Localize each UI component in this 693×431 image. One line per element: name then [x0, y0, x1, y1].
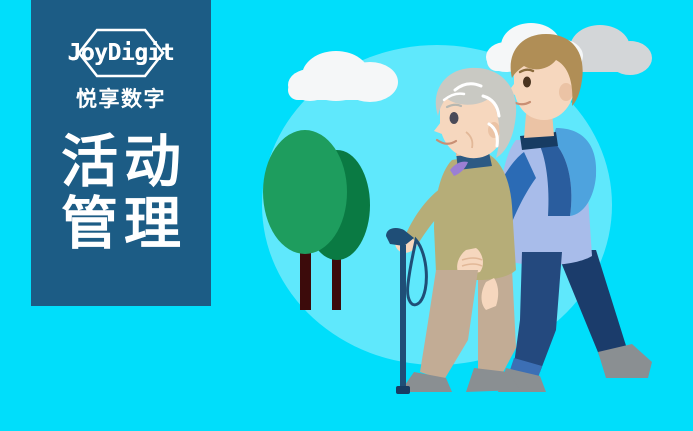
logo-hexagon-icon: JoyDigit: [47, 26, 195, 80]
page-title-line2: 管理: [55, 194, 187, 256]
poster-canvas: JoyDigit 悦享数字 活动 管理: [0, 0, 693, 431]
brand-panel: JoyDigit 悦享数字 活动 管理: [31, 0, 211, 306]
logo-subtitle: 悦享数字: [76, 89, 166, 110]
page-title: 活动 管理: [55, 132, 187, 255]
man-ear: [559, 83, 573, 101]
logo-block: JoyDigit 悦享数字: [47, 26, 195, 110]
page-title-line1: 活动: [55, 132, 187, 194]
woman-eye: [450, 112, 459, 124]
man-eye: [523, 77, 531, 88]
logo-wordmark: JoyDigit: [68, 42, 175, 65]
